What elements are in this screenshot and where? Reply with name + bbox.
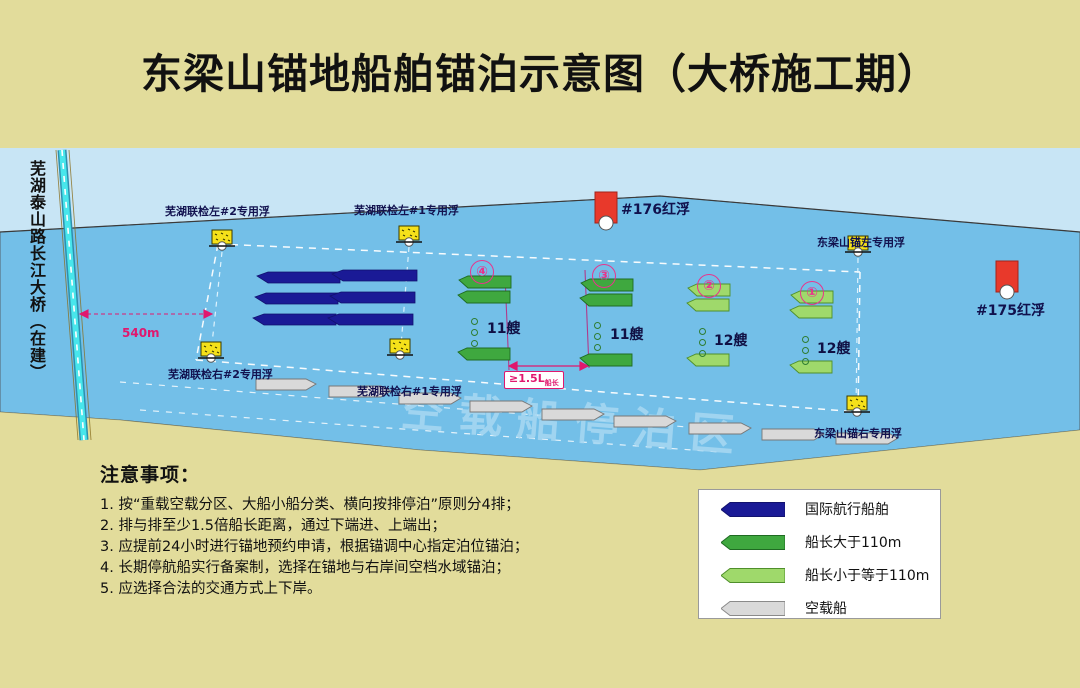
buoy-icon-wuhu-right-1[interactable]: [385, 337, 415, 363]
legend-item-small-ship: 船长小于等于110m: [721, 561, 940, 589]
diagram-canvas: 空载船停泊区: [0, 0, 1080, 688]
dimension-540m-label: 540m: [122, 326, 160, 340]
notes-heading: 注意事项：: [100, 460, 640, 487]
legend-swatch-large-ship: [721, 535, 785, 550]
buoy-label-wuhu-right-2: 芜湖联检右#2专用浮: [168, 366, 273, 382]
legend-label-international: 国际航行船舶: [805, 499, 889, 519]
legend-item-international: 国际航行船舶: [721, 495, 940, 523]
legend-label-small-ship: 船长小于等于110m: [805, 565, 929, 585]
buoy-label-dongliangshan-right: 东梁山锚右专用浮: [814, 425, 902, 441]
buoy-icon-dongliangshan-right[interactable]: [842, 394, 872, 420]
legend-item-empty-ship: 空载船: [721, 594, 940, 622]
legend-panel: 国际航行船舶 船长大于110m 船长小于等于110m 空载船: [698, 489, 941, 619]
notes-panel: 注意事项： 1. 按“重载空载分区、大船小船分类、横向按排停泊”原则分4排； 2…: [100, 460, 640, 600]
bridge-label: 芜湖泰山路长江大桥（在建）: [24, 160, 48, 381]
buoy-icon-wuhu-left-1[interactable]: [394, 224, 424, 250]
note-item-3: 3. 应提前24小时进行锚地预约申请，根据锚调中心指定泊位锚泊；: [100, 537, 640, 558]
row-dots-2: [699, 328, 706, 357]
buoy-icon-wuhu-left-2[interactable]: [207, 228, 237, 254]
note-item-2: 2. 排与排至少1.5倍船长距离，通过下端进、上端出；: [100, 516, 640, 537]
row-dots-1: [802, 336, 809, 365]
legend-swatch-empty-ship: [721, 601, 785, 616]
buoy-label-wuhu-left-1: 芜湖联检左#1专用浮: [354, 202, 459, 218]
ship-group-international: [253, 270, 417, 325]
notes-list: 1. 按“重载空载分区、大船小船分类、横向按排停泊”原则分4排； 2. 排与排至…: [100, 495, 640, 600]
buoy-label-wuhu-left-2: 芜湖联检左#2专用浮: [165, 203, 270, 219]
note-item-1: 1. 按“重载空载分区、大船小船分类、横向按排停泊”原则分4排；: [100, 495, 640, 516]
buoy-label-red-176: #176红浮: [621, 199, 690, 219]
row-spacing-sub: 船长: [545, 379, 559, 387]
buoy-label-dongliangshan-left: 东梁山锚左专用浮: [817, 234, 905, 250]
row-count-3: 11艘: [610, 324, 643, 344]
row-number-1: ①: [800, 281, 824, 305]
legend-swatch-international: [721, 502, 785, 517]
row-count-2: 12艘: [714, 330, 747, 350]
row-count-4: 11艘: [487, 318, 520, 338]
legend-label-large-ship: 船长大于110m: [805, 532, 901, 552]
row-number-3: ③: [592, 264, 616, 288]
row-spacing-value: ≥1.5L: [509, 372, 545, 385]
row-dots-4: [471, 318, 478, 347]
dimension-row-spacing-label: ≥1.5L船长: [504, 371, 564, 389]
note-item-4: 4. 长期停航船实行备案制，选择在锚地与右岸间空档水域锚泊；: [100, 558, 640, 579]
buoy-label-red-175: #175红浮: [976, 300, 1045, 320]
row-number-2: ②: [697, 274, 721, 298]
buoy-label-wuhu-right-1: 芜湖联检右#1专用浮: [357, 383, 462, 399]
title-band: 东梁山锚地船舶锚泊示意图（大桥施工期）: [0, 0, 1080, 148]
legend-item-large-ship: 船长大于110m: [721, 528, 940, 556]
buoy-icon-wuhu-right-2[interactable]: [196, 340, 226, 366]
page-title: 东梁山锚地船舶锚泊示意图（大桥施工期）: [0, 40, 1080, 100]
legend-swatch-small-ship: [721, 568, 785, 583]
legend-label-empty-ship: 空载船: [805, 598, 847, 618]
row-count-1: 12艘: [817, 338, 850, 358]
note-item-5: 5. 应选择合法的交通方式上下岸。: [100, 579, 640, 600]
row-dots-3: [594, 322, 601, 351]
row-number-4: ④: [470, 260, 494, 284]
